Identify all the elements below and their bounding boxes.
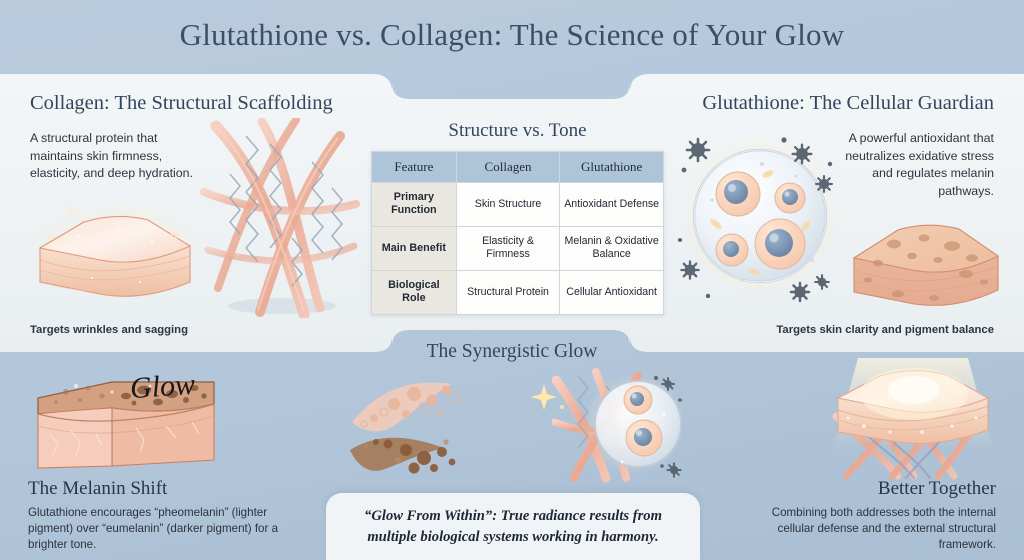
page-title: Glutathione vs. Collagen: The Science of…	[0, 17, 1024, 53]
collagen-panel-heading: Collagen: The Structural Scaffolding	[30, 92, 333, 115]
pigment-swoosh-icon	[348, 372, 478, 482]
glutathione-cell-icon	[672, 120, 852, 310]
table-cell-feature: Primary Function	[372, 182, 457, 226]
table-row: Biological Role Structural Protein Cellu…	[372, 270, 664, 314]
pigmented-skin-block-icon	[838, 208, 1010, 320]
table-cell-collagen: Elasticity & Firmness	[456, 226, 560, 270]
table-col-feature: Feature	[372, 152, 457, 183]
table-cell-glutathione: Antioxidant Defense	[560, 182, 664, 226]
table-row: Main Benefit Elasticity & Firmness Melan…	[372, 226, 664, 270]
quote-text: “Glow From Within”: True radiance result…	[326, 506, 700, 546]
quote-card: “Glow From Within”: True radiance result…	[326, 493, 700, 560]
better-together-heading: Better Together	[878, 478, 996, 500]
collagen-fiber-mesh-icon	[200, 118, 360, 318]
table-col-glutathione: Glutathione	[560, 152, 664, 183]
glow-script-word: Glow	[129, 368, 196, 406]
table-cell-collagen: Skin Structure	[456, 182, 560, 226]
table-cell-collagen: Structural Protein	[456, 270, 560, 314]
bottom-content-layer: The Synergistic Glow	[0, 330, 1024, 560]
table-cell-feature: Biological Role	[372, 270, 457, 314]
table-cell-feature: Main Benefit	[372, 226, 457, 270]
table-cell-glutathione: Melanin & Oxidative Balance	[560, 226, 664, 270]
synergy-section-title: The Synergistic Glow	[362, 341, 662, 363]
cell-and-fiber-fusion-icon	[552, 366, 687, 486]
melanin-shift-heading: The Melanin Shift	[28, 478, 167, 500]
collagen-skin-block-icon	[22, 190, 212, 315]
combined-skin-fiber-icon	[818, 358, 1008, 483]
melanin-shift-body: Glutathione encourages “pheomelanin” (li…	[28, 505, 286, 553]
table-row: Primary Function Skin Structure Antioxid…	[372, 182, 664, 226]
collagen-panel-body: A structural protein that maintains skin…	[30, 130, 195, 183]
infographic-canvas: Glutathione vs. Collagen: The Science of…	[0, 0, 1024, 560]
better-together-body: Combining both addresses both the intern…	[746, 505, 996, 553]
comparison-table: Feature Collagen Glutathione Primary Fun…	[371, 151, 664, 315]
glutathione-panel-heading: Glutathione: The Cellular Guardian	[702, 92, 994, 115]
table-col-collagen: Collagen	[456, 152, 560, 183]
table-title: Structure vs. Tone	[370, 120, 665, 142]
table-cell-glutathione: Cellular Antioxidant	[560, 270, 664, 314]
melanin-skin-block-icon	[26, 368, 226, 478]
table-header-row: Feature Collagen Glutathione	[372, 152, 664, 183]
